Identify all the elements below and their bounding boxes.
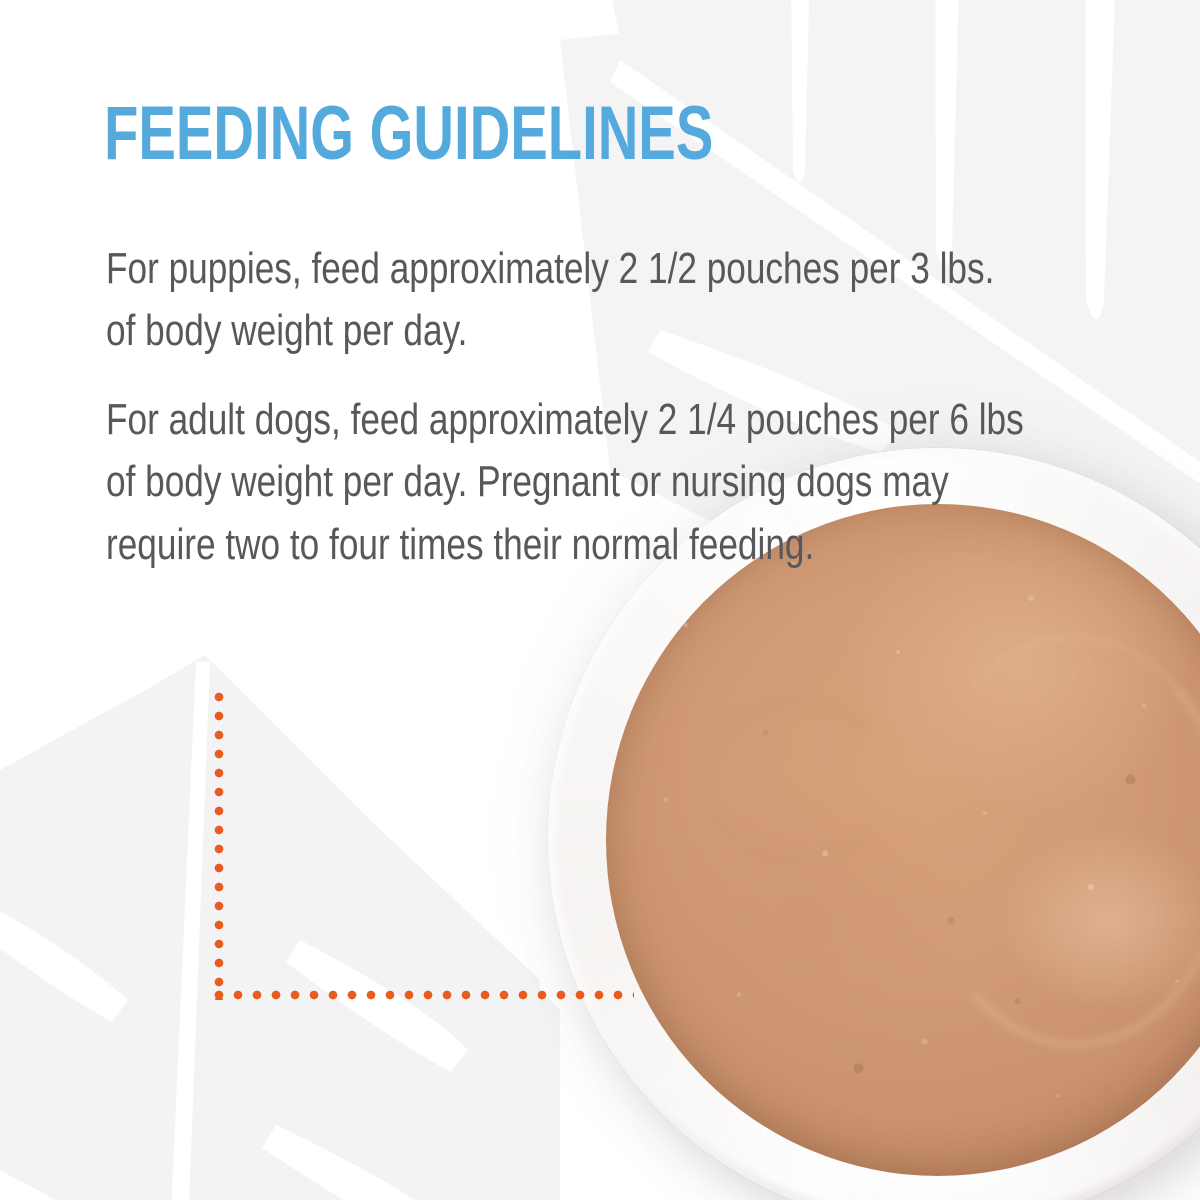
page-title: FEEDING GUIDELINES: [104, 96, 713, 172]
feeding-paragraph-adults: For adult dogs, feed approximately 2 1/4…: [106, 389, 1026, 576]
background-watermark-layer: [0, 0, 1200, 1200]
bowl-inner-shadow: [592, 488, 1200, 1188]
watermark-leaf-top-right: [0, 0, 1200, 1200]
feeding-paragraph-puppies: For puppies, feed approximately 2 1/2 po…: [106, 238, 1026, 363]
feeding-guidelines-panel: FEEDING GUIDELINES For puppies, feed app…: [0, 0, 1200, 1200]
pate-swirl-left: [702, 700, 894, 862]
pate-food-surface: [606, 504, 1200, 1176]
dotted-line-horizontal: [214, 990, 634, 1000]
pate-swirl-right: [918, 634, 1200, 1048]
feeding-instructions: For puppies, feed approximately 2 1/2 po…: [106, 238, 1036, 576]
dotted-line-vertical: [214, 692, 224, 1000]
